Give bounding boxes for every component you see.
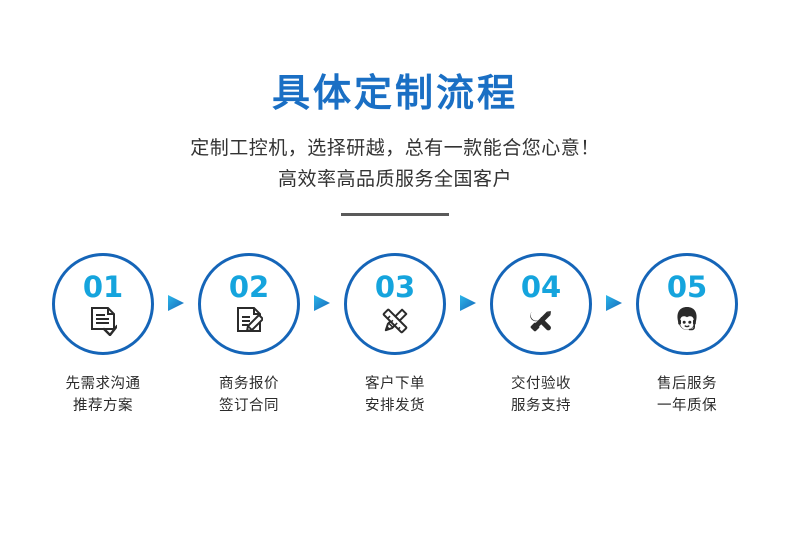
subtitle-line-2: 高效率高品质服务全国客户 bbox=[0, 164, 790, 195]
document-check-icon bbox=[89, 306, 117, 336]
process-step-5: 05 售后服务 一年质保 bbox=[628, 253, 746, 417]
step-circle-3: 03 bbox=[344, 253, 446, 355]
step-label-1-line-1: 先需求沟通 bbox=[66, 376, 141, 392]
step-label-1-line-2: 推荐方案 bbox=[66, 395, 141, 417]
page-title: 具体定制流程 bbox=[0, 74, 790, 116]
step-circle-2: 02 bbox=[198, 253, 300, 355]
process-step-1: 01 先需求沟通 推荐方案 bbox=[44, 253, 162, 417]
step-label-2: 商务报价 签订合同 bbox=[219, 373, 279, 417]
pencil-ruler-icon bbox=[380, 306, 410, 336]
process-step-3: 03 bbox=[336, 253, 454, 417]
process-step-2: 02 商务报价 签订合同 bbox=[190, 253, 308, 417]
step-circle-4: 04 bbox=[490, 253, 592, 355]
wrench-screwdriver-icon bbox=[526, 306, 556, 336]
step-number-4: 04 bbox=[521, 273, 561, 302]
customization-process-infographic: 具体定制流程 定制工控机，选择研越，总有一款能合您心意！ 高效率高品质服务全国客… bbox=[0, 0, 790, 535]
step-label-1: 先需求沟通 推荐方案 bbox=[66, 373, 141, 417]
headset-support-icon bbox=[672, 306, 702, 336]
step-label-2-line-1: 商务报价 bbox=[219, 376, 279, 392]
process-step-4: 04 交付验收 bbox=[482, 253, 600, 417]
arrow-1-2 bbox=[162, 253, 190, 313]
title-divider bbox=[341, 213, 449, 216]
step-circle-5: 05 bbox=[636, 253, 738, 355]
step-label-3-line-1: 客户下单 bbox=[365, 376, 425, 392]
step-number-2: 02 bbox=[229, 273, 269, 302]
header: 具体定制流程 定制工控机，选择研越，总有一款能合您心意！ 高效率高品质服务全国客… bbox=[0, 0, 790, 216]
step-label-5: 售后服务 一年质保 bbox=[657, 373, 717, 417]
arrow-3-4 bbox=[454, 253, 482, 313]
step-number-5: 05 bbox=[667, 273, 707, 302]
arrow-4-5 bbox=[600, 253, 628, 313]
step-number-3: 03 bbox=[375, 273, 415, 302]
step-label-3: 客户下单 安排发货 bbox=[365, 373, 425, 417]
document-pen-icon bbox=[235, 306, 263, 336]
step-label-4-line-1: 交付验收 bbox=[511, 376, 571, 392]
subtitle-block: 定制工控机，选择研越，总有一款能合您心意！ 高效率高品质服务全国客户 bbox=[0, 133, 790, 195]
subtitle-line-1: 定制工控机，选择研越，总有一款能合您心意！ bbox=[0, 133, 790, 164]
process-steps: 01 先需求沟通 推荐方案 bbox=[0, 253, 790, 417]
step-label-4-line-2: 服务支持 bbox=[511, 395, 571, 417]
step-circle-1: 01 bbox=[52, 253, 154, 355]
step-label-4: 交付验收 服务支持 bbox=[511, 373, 571, 417]
step-label-5-line-1: 售后服务 bbox=[657, 376, 717, 392]
arrow-2-3 bbox=[308, 253, 336, 313]
step-label-5-line-2: 一年质保 bbox=[657, 395, 717, 417]
step-label-3-line-2: 安排发货 bbox=[365, 395, 425, 417]
step-number-1: 01 bbox=[83, 273, 123, 302]
step-label-2-line-2: 签订合同 bbox=[219, 395, 279, 417]
